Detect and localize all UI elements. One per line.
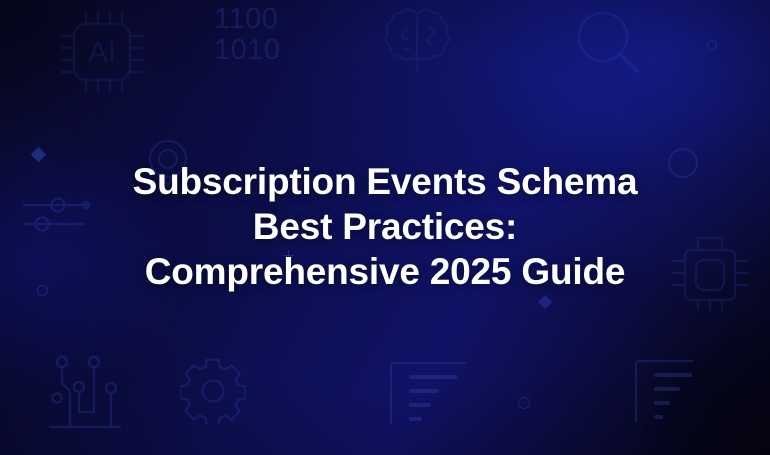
hero-banner: AI 1100 1010 bbox=[0, 0, 770, 455]
title-container: Subscription Events Schema Best Practice… bbox=[0, 0, 770, 455]
title-line-2: Best Practices: bbox=[253, 206, 517, 247]
title-line-3: Comprehensive 2025 Guide bbox=[145, 251, 626, 292]
title-line-1: Subscription Events Schema bbox=[133, 161, 638, 202]
page-title: Subscription Events Schema Best Practice… bbox=[133, 160, 638, 294]
